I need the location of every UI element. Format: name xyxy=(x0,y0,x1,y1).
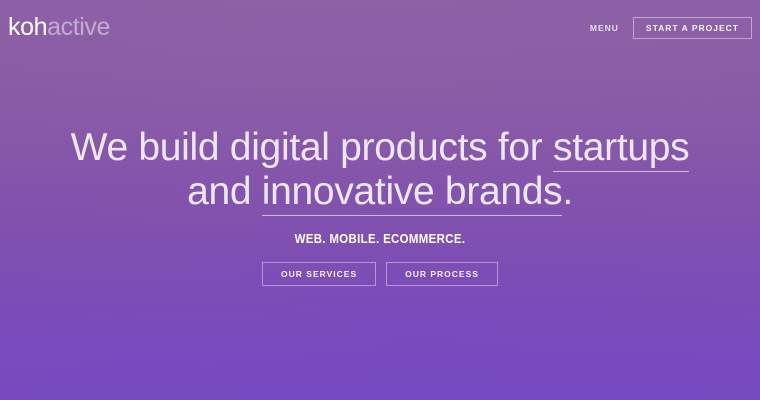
start-a-project-button[interactable]: START A PROJECT xyxy=(633,17,752,39)
brand-logo-secondary: active xyxy=(47,13,110,41)
our-services-button[interactable]: OUR SERVICES xyxy=(262,262,376,286)
brand-logo-primary: koh xyxy=(8,13,47,41)
hero-section: kohactive MENU START A PROJECT We build … xyxy=(0,0,760,400)
hero-headline: We build digital products for startups a… xyxy=(0,126,760,214)
header-nav: MENU START A PROJECT xyxy=(588,17,752,39)
headline-link-innovative-brands[interactable]: innovative brands xyxy=(262,170,563,216)
brand-logo[interactable]: kohactive xyxy=(8,15,110,40)
headline-text-2: and xyxy=(187,170,262,213)
menu-toggle-button[interactable]: MENU xyxy=(588,19,621,37)
hero-content: We build digital products for startups a… xyxy=(0,126,760,286)
headline-link-startups[interactable]: startups xyxy=(553,126,689,172)
our-process-button[interactable]: OUR PROCESS xyxy=(386,262,498,286)
hero-subtitle: WEB. MOBILE. ECOMMERCE. xyxy=(46,231,715,246)
hero-action-buttons: OUR SERVICES OUR PROCESS xyxy=(0,262,760,286)
headline-text-3: . xyxy=(562,170,573,213)
headline-text-1: We build digital products for xyxy=(71,126,553,169)
site-header: kohactive MENU START A PROJECT xyxy=(0,0,760,56)
